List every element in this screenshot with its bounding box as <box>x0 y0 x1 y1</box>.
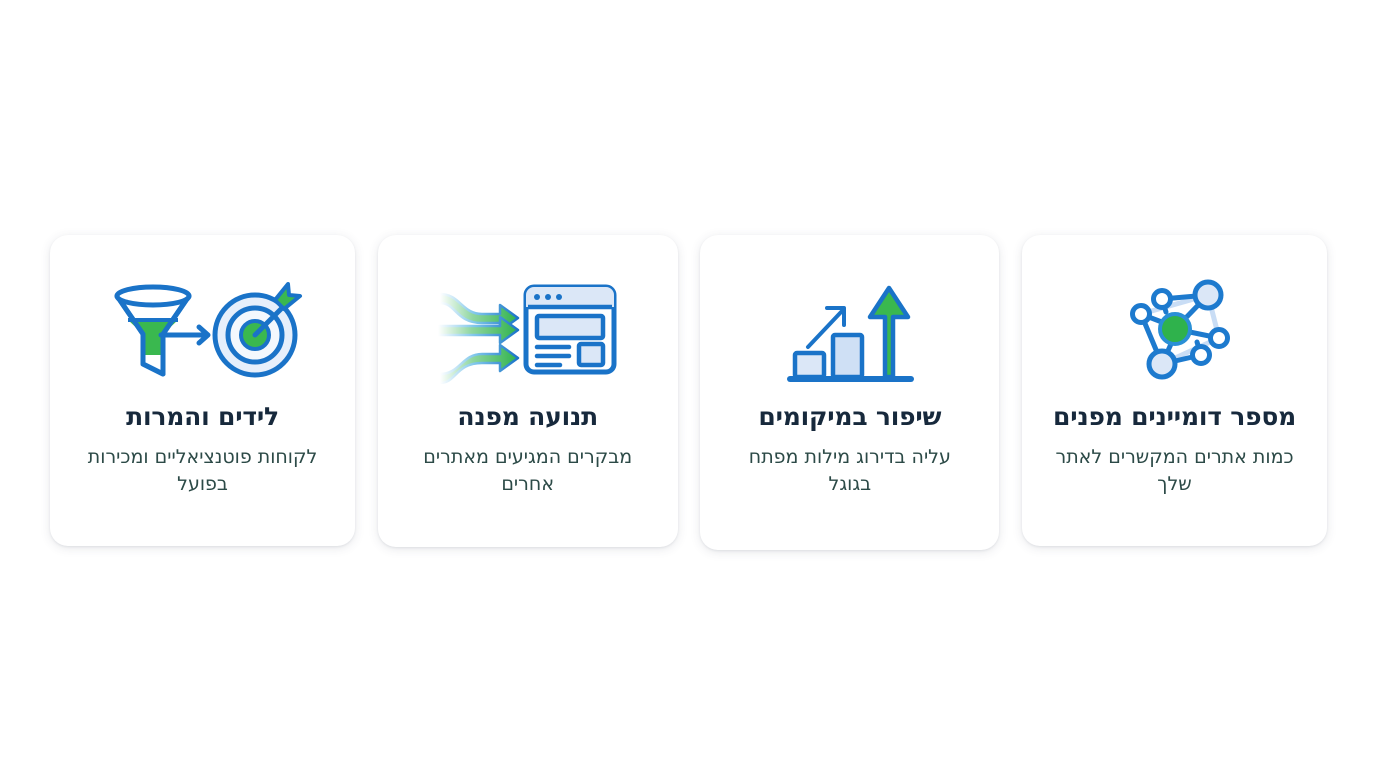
card-description: מבקרים המגיעים מאתרים אחרים <box>403 444 653 498</box>
metric-card-ranking-improvement[interactable]: שיפור במיקומים עליה בדירוג מילות מפתח בג… <box>700 235 999 550</box>
growth-bar-chart-arrow-icon <box>740 277 960 385</box>
browser-window-inbound-arrows-icon <box>418 277 638 385</box>
funnel-target-icon <box>93 277 313 385</box>
card-title: לידים והמרות <box>126 401 279 432</box>
card-title: תנועה מפנה <box>457 401 598 432</box>
card-description: כמות אתרים המקשרים לאתר שלך <box>1050 444 1300 498</box>
card-title: מספר דומיינים מפנים <box>1053 401 1296 432</box>
network-nodes-icon <box>1065 277 1285 385</box>
metric-card-referring-domains[interactable]: מספר דומיינים מפנים כמות אתרים המקשרים ל… <box>1022 235 1327 546</box>
card-description: עליה בדירוג מילות מפתח בגוגל <box>725 444 975 498</box>
card-description: לקוחות פוטנציאליים ומכירות בפועל <box>78 444 328 498</box>
metric-card-leads-conversions[interactable]: לידים והמרות לקוחות פוטנציאליים ומכירות … <box>50 235 355 546</box>
metric-cards-row: מספר דומיינים מפנים כמות אתרים המקשרים ל… <box>50 235 1327 547</box>
card-title: שיפור במיקומים <box>758 401 941 432</box>
metric-card-referral-traffic[interactable]: תנועה מפנה מבקרים המגיעים מאתרים אחרים <box>378 235 678 547</box>
